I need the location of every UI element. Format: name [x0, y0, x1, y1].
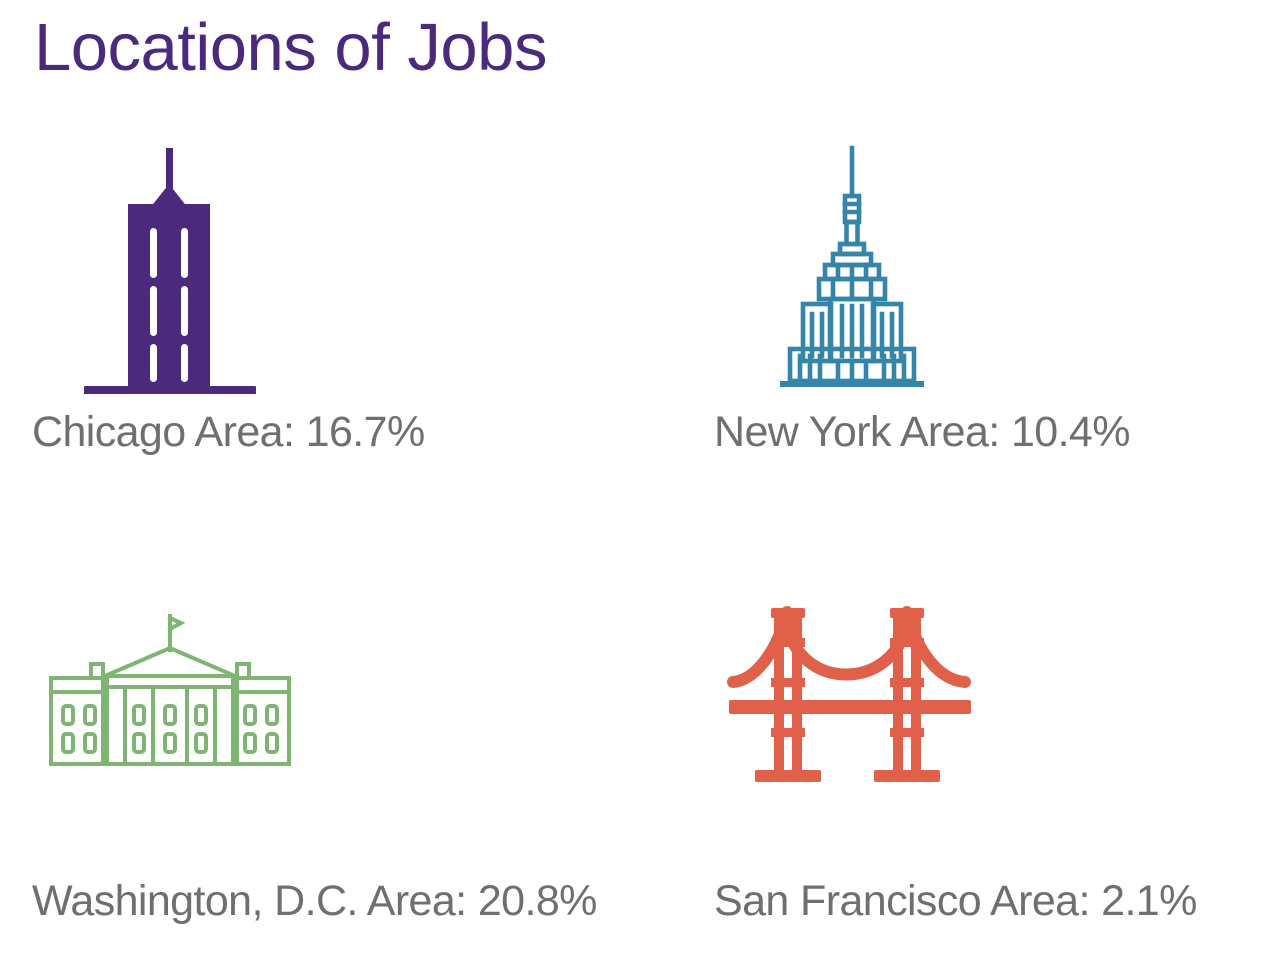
page-title: Locations of Jobs: [34, 8, 547, 88]
location-label-chicago: Chicago Area: 16.7%: [32, 406, 425, 458]
empire-state-building-icon: [722, 132, 982, 394]
locations-grid: Chicago Area: 16.7%: [0, 110, 1280, 977]
location-card-washington-dc[interactable]: Washington, D.C. Area: 20.8%: [0, 493, 690, 977]
infographic-page: Locations of Jobs: [0, 0, 1280, 977]
white-house-icon: [20, 595, 320, 795]
golden-gate-bridge-icon: [700, 585, 1000, 795]
location-card-sanfrancisco[interactable]: San Francisco Area: 2.1%: [690, 493, 1280, 977]
location-card-chicago[interactable]: Chicago Area: 16.7%: [0, 110, 690, 493]
location-label-sanfrancisco: San Francisco Area: 2.1%: [714, 875, 1197, 927]
location-label-newyork: New York Area: 10.4%: [714, 406, 1130, 458]
location-label-washington-dc: Washington, D.C. Area: 20.8%: [32, 875, 597, 927]
location-card-newyork[interactable]: New York Area: 10.4%: [690, 110, 1280, 493]
skyscraper-icon: [40, 132, 300, 394]
